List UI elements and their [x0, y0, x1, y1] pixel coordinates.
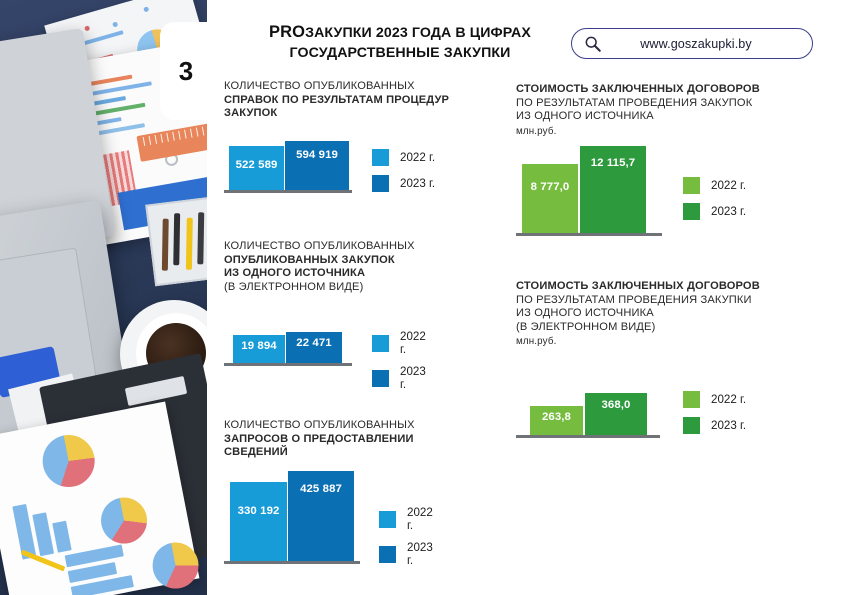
- heading-line: ЗАКУПОК: [224, 107, 449, 121]
- chart-heading: КОЛИЧЕСТВО ОПУБЛИКОВАННЫХ СПРАВОК ПО РЕЗ…: [224, 80, 449, 121]
- chart-block-zakupki-elektron: КОЛИЧЕСТВО ОПУБЛИКОВАННЫХ ОПУБЛИКОВАННЫХ…: [224, 240, 415, 366]
- legend-swatch-2023: [379, 546, 396, 563]
- legend-label-2022: 2022 г.: [400, 151, 435, 164]
- legend-label-2023: 2023 г.: [400, 177, 435, 190]
- bar-value-label: 522 589: [236, 159, 278, 171]
- legend-item: 2023 г.: [683, 417, 746, 434]
- heading-line: (В ЭЛЕКТРОННОМ ВИДЕ): [224, 281, 415, 295]
- title-pro: PRO: [269, 23, 305, 41]
- legend-label-2022: 2022 г.: [400, 330, 426, 356]
- heading-line: СПРАВОК ПО РЕЗУЛЬТАТАМ ПРОЦЕДУР: [224, 94, 449, 108]
- pen-holder: [145, 196, 207, 286]
- axis-baseline: [224, 190, 352, 193]
- chart-legend: 2022 г. 2023 г.: [372, 330, 426, 400]
- legend-swatch-2022: [379, 511, 396, 528]
- legend-label-2023: 2023 г.: [711, 205, 746, 218]
- bar-2022: 522 589: [229, 146, 284, 190]
- bar-2023: 425 887: [288, 471, 354, 561]
- bar-value-label: 12 115,7: [591, 157, 636, 169]
- legend-item: 2023 г.: [379, 541, 433, 567]
- bar-value-label: 425 887: [300, 483, 342, 495]
- heading-line: СВЕДЕНИЙ: [224, 446, 415, 460]
- legend-item: 2023 г.: [372, 175, 435, 192]
- legend-swatch-2022: [683, 391, 700, 408]
- chart-block-stoimost: СТОИМОСТЬ ЗАКЛЮЧЕННЫХ ДОГОВОРОВ ПО РЕЗУЛ…: [516, 83, 760, 236]
- title-line-2: ГОСУДАРСТВЕННЫЕ ЗАКУПКИ: [240, 43, 560, 63]
- bar-2022: 330 192: [230, 482, 287, 561]
- legend-swatch-2022: [372, 335, 389, 352]
- report-sheet-with-charts: [0, 402, 199, 595]
- heading-line: ОПУБЛИКОВАННЫХ ЗАКУПОК: [224, 254, 415, 268]
- heading-line: СТОИМОСТЬ ЗАКЛЮЧЕННЫХ ДОГОВОРОВ: [516, 83, 760, 97]
- bar-plot: 263,8 368,0: [516, 394, 666, 438]
- chart-legend: 2022 г. 2023 г.: [372, 149, 435, 201]
- chart-block-spravki: КОЛИЧЕСТВО ОПУБЛИКОВАННЫХ СПРАВОК ПО РЕЗ…: [224, 80, 449, 193]
- chart-block-stoimost-elektron: СТОИМОСТЬ ЗАКЛЮЧЕННЫХ ДОГОВОРОВ ПО РЕЗУЛ…: [516, 280, 760, 438]
- axis-baseline: [224, 561, 360, 564]
- legend-swatch-2023: [372, 370, 389, 387]
- legend-swatch-2022: [683, 177, 700, 194]
- bar-plot: 8 777,0 12 115,7: [516, 155, 668, 236]
- bar-2023: 594 919: [285, 141, 349, 190]
- chart-block-zaprosy: КОЛИЧЕСТВО ОПУБЛИКОВАННЫХ ЗАПРОСОВ О ПРЕ…: [224, 419, 415, 564]
- bar-value-label: 330 192: [238, 505, 280, 517]
- chart-legend: 2022 г. 2023 г.: [683, 391, 746, 443]
- legend-swatch-2023: [683, 417, 700, 434]
- legend-label-2022: 2022 г.: [711, 393, 746, 406]
- page-number: 3: [179, 56, 193, 87]
- website-search-bar[interactable]: www.goszakupki.by: [571, 28, 813, 59]
- search-icon: [584, 35, 602, 53]
- legend-label-2023: 2023 г.: [407, 541, 433, 567]
- heading-line: СТОИМОСТЬ ЗАКЛЮЧЕННЫХ ДОГОВОРОВ: [516, 280, 760, 294]
- bar-2022: 8 777,0: [522, 164, 578, 233]
- legend-label-2022: 2022 г.: [407, 506, 433, 532]
- chart-units: млн.руб.: [516, 125, 760, 139]
- legend-item: 2022 г.: [683, 391, 746, 408]
- legend-swatch-2023: [683, 203, 700, 220]
- bar-value-label: 19 894: [241, 340, 276, 352]
- page-title: PROЗАКУПКИ 2023 ГОДА В ЦИФРАХ ГОСУДАРСТВ…: [240, 22, 560, 63]
- axis-baseline: [516, 233, 662, 236]
- legend-swatch-2022: [372, 149, 389, 166]
- bar-plot: 330 192 425 887: [224, 479, 366, 564]
- legend-swatch-2023: [372, 175, 389, 192]
- title-line-1: PROЗАКУПКИ 2023 ГОДА В ЦИФРАХ: [240, 22, 560, 43]
- chart-units: млн.руб.: [516, 335, 760, 349]
- legend-item: 2023 г.: [683, 203, 746, 220]
- website-url: www.goszakupki.by: [602, 37, 812, 51]
- chart-heading: СТОИМОСТЬ ЗАКЛЮЧЕННЫХ ДОГОВОРОВ ПО РЕЗУЛ…: [516, 83, 760, 138]
- heading-line: ИЗ ОДНОГО ИСТОЧНИКА: [516, 307, 760, 321]
- heading-line: ЗАПРОСОВ О ПРЕДОСТАВЛЕНИИ: [224, 433, 415, 447]
- chart-heading: КОЛИЧЕСТВО ОПУБЛИКОВАННЫХ ОПУБЛИКОВАННЫХ…: [224, 240, 415, 294]
- axis-baseline: [224, 363, 352, 366]
- page-number-badge: 3: [160, 22, 212, 120]
- chart-legend: 2022 г. 2023 г.: [379, 506, 433, 576]
- legend-item: 2022 г.: [372, 149, 435, 166]
- heading-line: КОЛИЧЕСТВО ОПУБЛИКОВАННЫХ: [224, 419, 415, 433]
- bar-2023: 22 471: [286, 332, 342, 363]
- legend-label-2022: 2022 г.: [711, 179, 746, 192]
- heading-line: ПО РЕЗУЛЬТАТАМ ПРОВЕДЕНИЯ ЗАКУПОК: [516, 97, 760, 111]
- bar-value-label: 22 471: [296, 337, 331, 349]
- legend-item: 2023 г.: [372, 365, 426, 391]
- axis-baseline: [516, 435, 660, 438]
- infographic-page: 3 PROЗАКУПКИ 2023 ГОДА В ЦИФРАХ ГОСУДАРС…: [0, 0, 842, 595]
- bar-2022: 19 894: [233, 335, 285, 363]
- bar-value-label: 594 919: [296, 149, 338, 161]
- legend-label-2023: 2023 г.: [400, 365, 426, 391]
- heading-line: (В ЭЛЕКТРОННОМ ВИДЕ): [516, 321, 760, 335]
- heading-line: ИЗ ОДНОГО ИСТОЧНИКА: [516, 110, 760, 124]
- bar-value-label: 368,0: [601, 399, 630, 411]
- heading-line: ПО РЕЗУЛЬТАТАМ ПРОВЕДЕНИЯ ЗАКУПКИ: [516, 294, 760, 308]
- bar-plot: 19 894 22 471: [224, 326, 359, 366]
- bar-2023: 368,0: [585, 393, 647, 435]
- chart-heading: КОЛИЧЕСТВО ОПУБЛИКОВАННЫХ ЗАПРОСОВ О ПРЕ…: [224, 419, 415, 460]
- legend-label-2023: 2023 г.: [711, 419, 746, 432]
- legend-item: 2022 г.: [372, 330, 426, 356]
- chart-heading: СТОИМОСТЬ ЗАКЛЮЧЕННЫХ ДОГОВОРОВ ПО РЕЗУЛ…: [516, 280, 760, 349]
- legend-item: 2022 г.: [379, 506, 433, 532]
- heading-line: КОЛИЧЕСТВО ОПУБЛИКОВАННЫХ: [224, 80, 449, 94]
- chart-legend: 2022 г. 2023 г.: [683, 177, 746, 229]
- heading-line: КОЛИЧЕСТВО ОПУБЛИКОВАННЫХ: [224, 240, 415, 254]
- title-rest: ЗАКУПКИ 2023 ГОДА В ЦИФРАХ: [305, 25, 531, 41]
- bar-2022: 263,8: [530, 406, 583, 435]
- bar-2023: 12 115,7: [580, 146, 646, 233]
- legend-item: 2022 г.: [683, 177, 746, 194]
- bar-value-label: 8 777,0: [531, 181, 570, 193]
- bar-value-label: 263,8: [542, 411, 571, 423]
- bar-plot: 522 589 594 919: [224, 143, 359, 193]
- heading-line: ИЗ ОДНОГО ИСТОЧНИКА: [224, 267, 415, 281]
